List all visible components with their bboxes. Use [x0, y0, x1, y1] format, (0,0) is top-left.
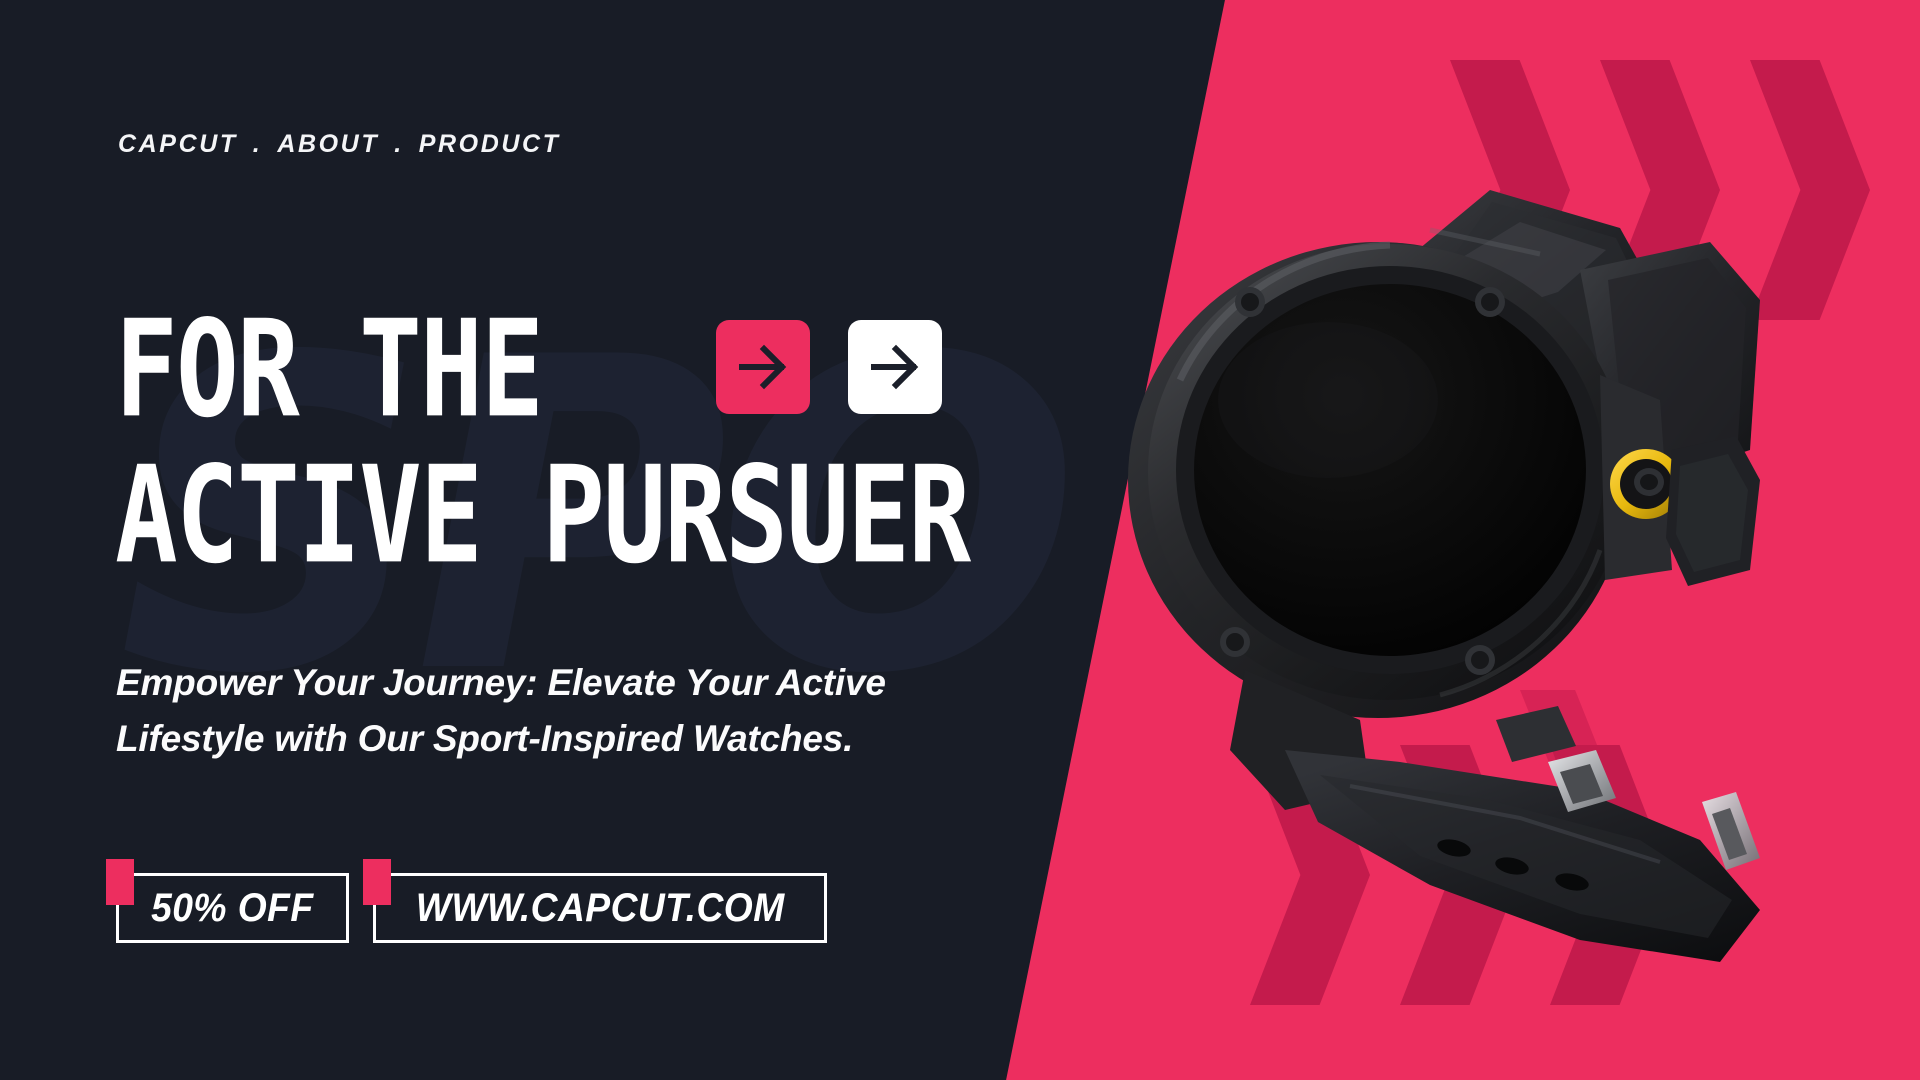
- arrow-button-secondary[interactable]: [848, 320, 942, 414]
- headline-line-2: ACTIVE PURSUER: [115, 451, 969, 581]
- watch-strap-keeper: [1496, 706, 1576, 762]
- headline-line-1: FOR THE: [115, 305, 542, 435]
- arrow-button-primary[interactable]: [716, 320, 810, 414]
- corner-accent-square: [363, 859, 391, 905]
- subtitle-paragraph: Empower Your Journey: Elevate Your Activ…: [116, 655, 886, 767]
- nav-item-capcut[interactable]: CAPCUT: [118, 130, 238, 159]
- cta-row: 50% OFF WWW.CAPCUT.COM: [116, 873, 827, 943]
- nav-item-about[interactable]: ABOUT: [277, 130, 379, 159]
- subtitle-line-1: Empower Your Journey: Elevate Your Activ…: [116, 655, 886, 711]
- corner-accent-square: [106, 859, 134, 905]
- website-label: WWW.CAPCUT.COM: [416, 886, 785, 931]
- smartwatch-illustration: [1060, 150, 1800, 980]
- arrow-button-group: [716, 320, 942, 414]
- nav-separator: .: [379, 130, 419, 159]
- arrow-right-icon: [869, 341, 921, 393]
- nav-separator: .: [238, 130, 278, 159]
- discount-label: 50% OFF: [151, 886, 313, 931]
- subtitle-line-2: Lifestyle with Our Sport-Inspired Watche…: [116, 711, 886, 767]
- arrow-right-icon: [737, 341, 789, 393]
- promo-banner: SPO CAPCUT . ABOUT . PRODUCT FOR THE: [0, 0, 1920, 1080]
- top-navigation: CAPCUT . ABOUT . PRODUCT: [118, 130, 561, 159]
- nav-item-product[interactable]: PRODUCT: [419, 130, 561, 159]
- discount-badge[interactable]: 50% OFF: [116, 873, 349, 943]
- headline-line-1-row: FOR THE: [115, 310, 1132, 430]
- website-badge[interactable]: WWW.CAPCUT.COM: [373, 873, 828, 943]
- headline-block: FOR THE ACTIVE PURSUER: [115, 310, 1132, 577]
- product-image-smartwatch: [1060, 150, 1800, 980]
